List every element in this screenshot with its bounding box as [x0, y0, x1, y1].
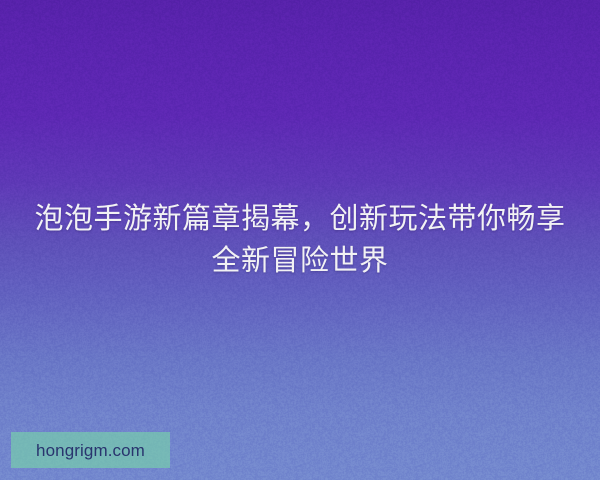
promo-banner: 泡泡手游新篇章揭幕，创新玩法带你畅享 全新冒险世界 hongrigm.com [0, 0, 600, 480]
watermark-chip: hongrigm.com [11, 432, 170, 468]
watermark-label: hongrigm.com [36, 442, 145, 459]
banner-headline: 泡泡手游新篇章揭幕，创新玩法带你畅享 全新冒险世界 [0, 198, 600, 282]
